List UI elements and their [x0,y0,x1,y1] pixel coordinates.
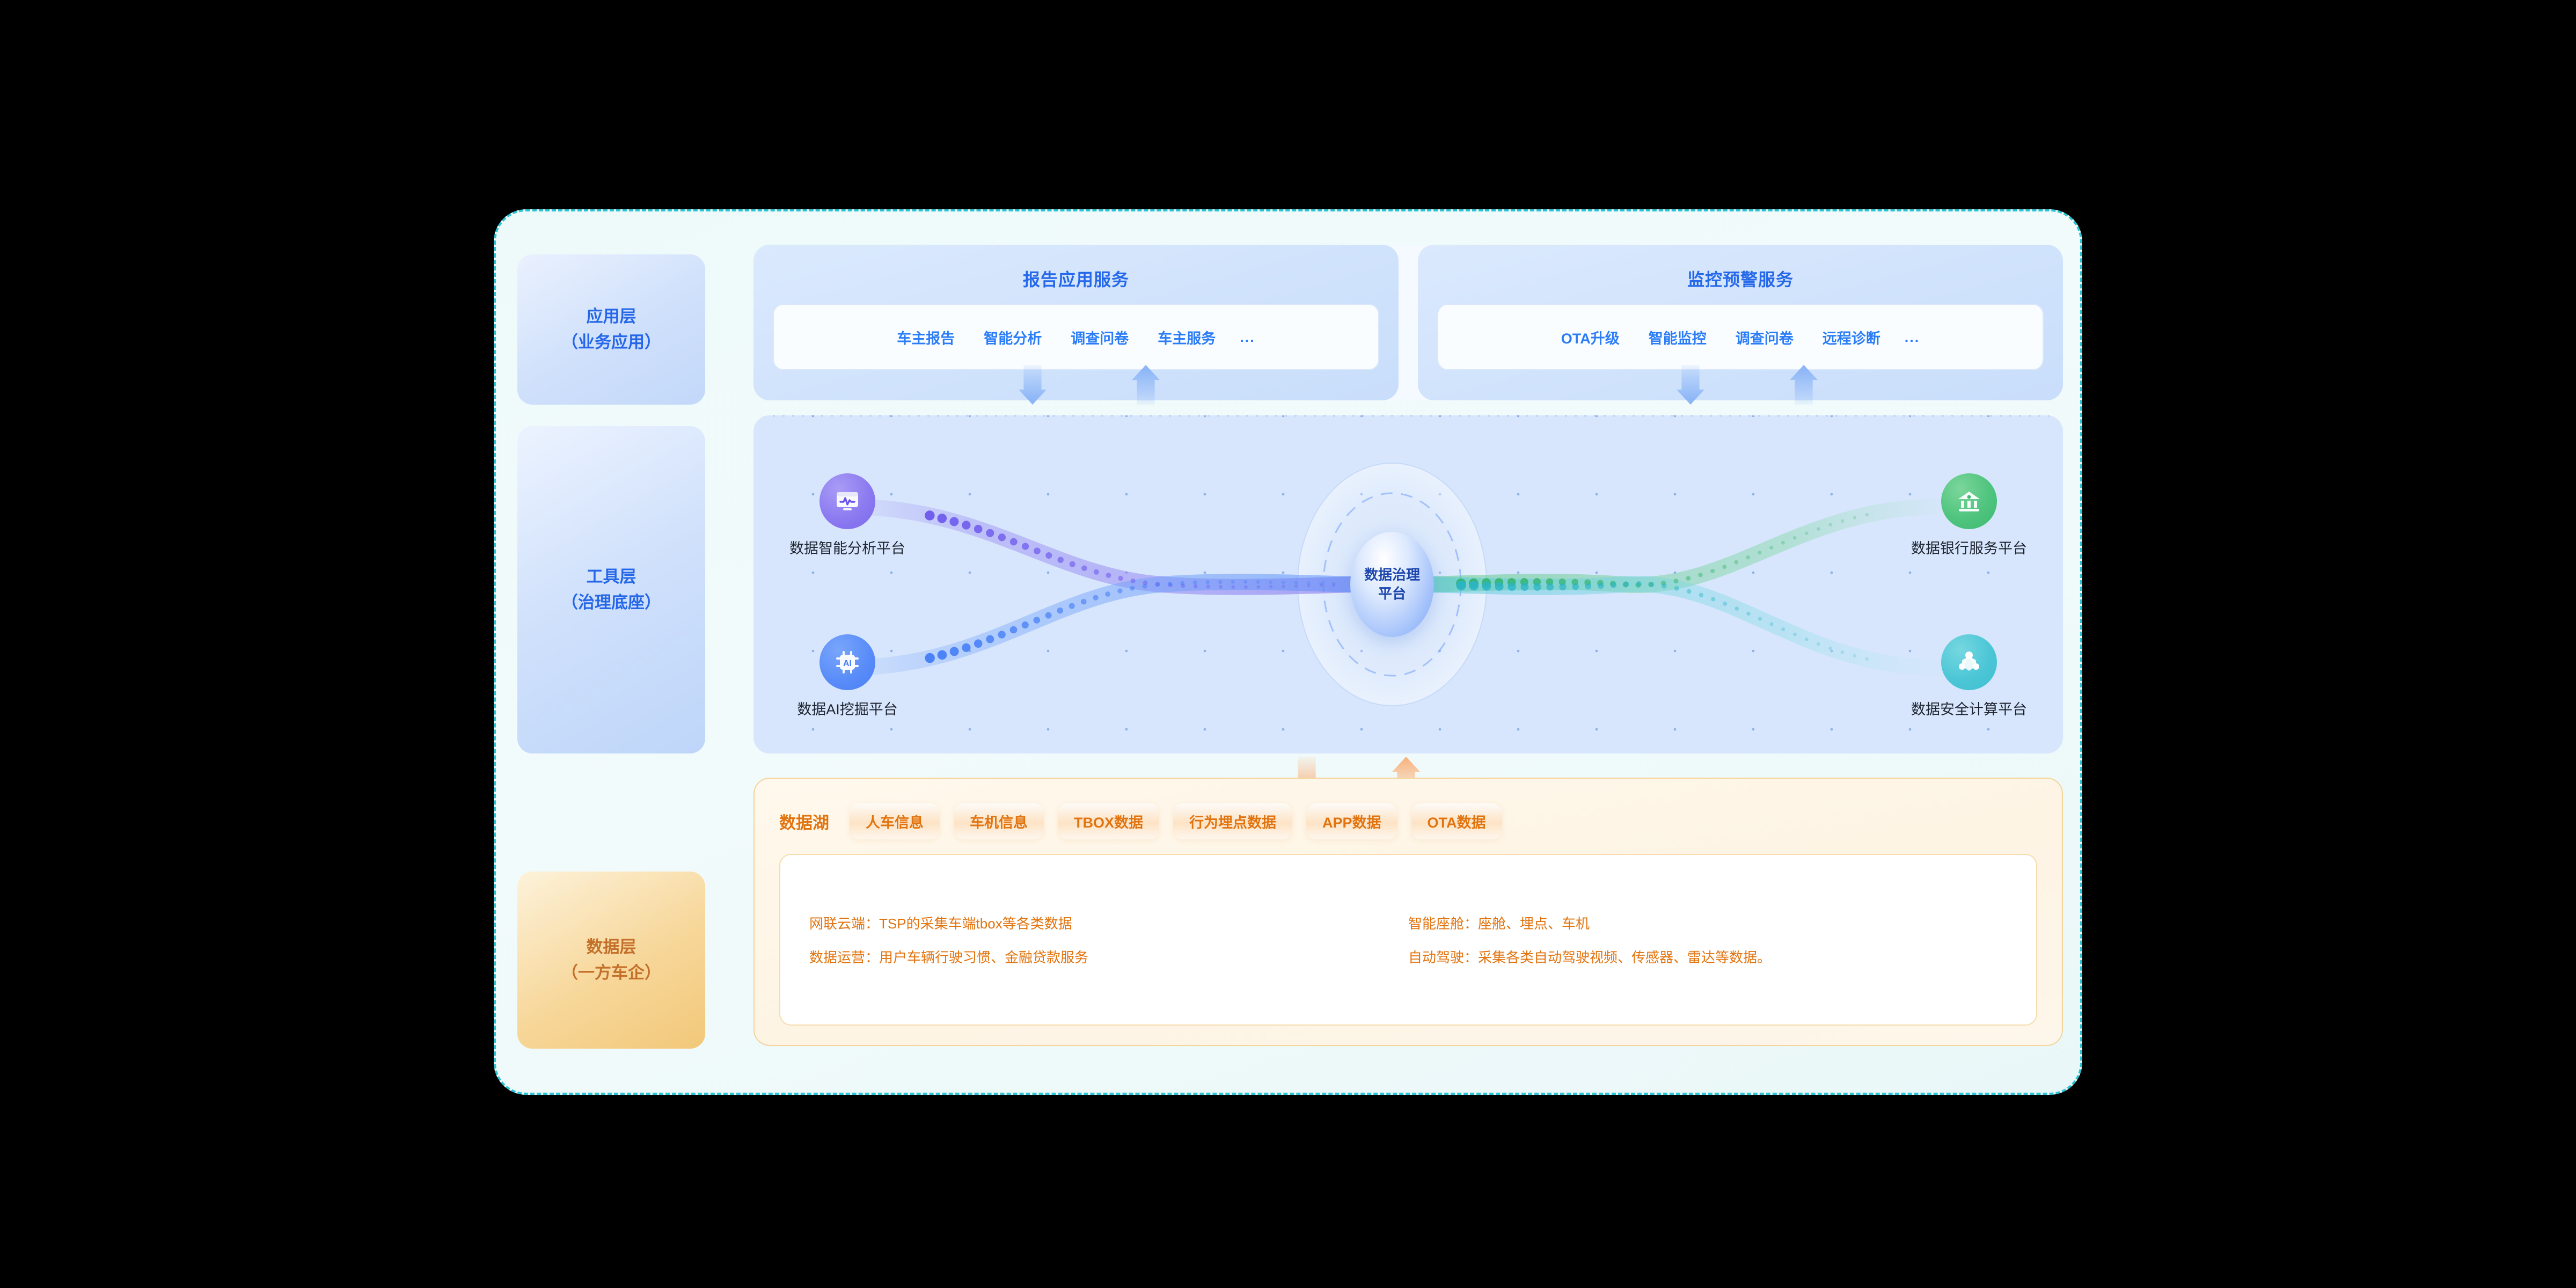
chip-more-monitor[interactable]: ... [1895,329,1935,346]
chip-smart-analysis[interactable]: 智能分析 [969,327,1056,348]
tag-app-data[interactable]: APP数据 [1306,803,1397,839]
tool-layer-panel: 数据智能分析平台 AI 数据AI挖掘平台 [753,415,2063,753]
desc-data-operation: 数据运营：用户车辆行驶习惯、金融贷款服务 [809,947,1408,967]
node-label-data-smart-analysis: 数据智能分析平台 [789,537,905,558]
layer-tool-name: 工具层 [561,564,661,590]
layer-app-sub: （业务应用） [561,330,661,355]
diagram-content: 报告应用服务 车主报告 智能分析 调查问卷 车主服务 ... 监控预警服务 OT… [753,233,2063,1075]
chip-more-report[interactable]: ... [1230,329,1270,346]
chip-questionnaire[interactable]: 调查问卷 [1056,327,1143,348]
tag-tbox-data[interactable]: TBOX数据 [1058,803,1159,839]
desc-autonomous-driving: 自动驾驶：采集各类自动驾驶视频、传感器、雷达等数据。 [1408,947,2007,967]
service-card-report[interactable]: 报告应用服务 车主报告 智能分析 调查问卷 车主服务 ... [753,245,1399,400]
layer-data-sub: （一方车企） [561,960,661,986]
tag-vehicle-machine-info[interactable]: 车机信息 [954,803,1044,839]
node-label-data-bank-service: 数据银行服务平台 [1911,537,2027,558]
hub-label-line2: 平台 [1364,584,1420,603]
data-lake-right-column: 智能座舱：座舱、埋点、车机 自动驾驶：采集各类自动驾驶视频、传感器、雷达等数据。 [1408,876,2007,1003]
data-lake-left-column: 网联云端：TSP的采集车端tbox等各类数据 数据运营：用户车辆行驶习惯、金融贷… [809,876,1408,1003]
node-label-data-ai-mining: 数据AI挖掘平台 [797,698,898,719]
service-card-monitor[interactable]: 监控预警服务 OTA升级 智能监控 调查问卷 远程诊断 ... [1418,245,2063,400]
layer-label-application: 应用层 （业务应用） [517,254,705,405]
service-card-report-chips: 车主报告 智能分析 调查问卷 车主服务 ... [773,304,1379,370]
chip-owner-report[interactable]: 车主报告 [882,327,969,348]
diagram-container: 应用层 （业务应用） 工具层 （治理底座） 数据层 （一方车企） 报告应用服务 [494,209,2082,1095]
diagram-inner: 应用层 （业务应用） 工具层 （治理底座） 数据层 （一方车企） 报告应用服务 [517,233,2063,1075]
data-lake-panel: 数据湖 人车信息 车机信息 TBOX数据 行为埋点数据 APP数据 OTA数据 … [753,778,2063,1046]
tag-behavior-tracking-data[interactable]: 行为埋点数据 [1173,803,1292,839]
layer-label-tool: 工具层 （治理底座） [517,426,705,753]
monitor-pulse-icon [819,473,875,529]
layer-data-name: 数据层 [561,934,661,960]
node-data-security-computing-platform[interactable]: 数据安全计算平台 [1926,634,2012,719]
desc-connected-cloud: 网联云端：TSP的采集车端tbox等各类数据 [809,913,1408,933]
data-lake-title: 数据湖 [779,809,829,833]
ai-chip-icon: AI [819,634,875,690]
hub-data-governance-platform[interactable]: 数据治理 平台 [1350,532,1434,637]
shield-network-icon [1941,634,1997,690]
chip-ota-upgrade[interactable]: OTA升级 [1547,327,1634,348]
tag-ota-data[interactable]: OTA数据 [1411,803,1502,839]
node-data-ai-mining-platform[interactable]: AI 数据AI挖掘平台 [804,634,890,719]
chip-owner-service[interactable]: 车主服务 [1143,327,1230,348]
application-layer-panel: 报告应用服务 车主报告 智能分析 调查问卷 车主服务 ... 监控预警服务 OT… [753,245,2063,400]
arrow-down-monitor-icon [1677,365,1704,405]
desc-smart-cockpit: 智能座舱：座舱、埋点、车机 [1408,913,2007,933]
tag-people-vehicle-info[interactable]: 人车信息 [850,803,940,839]
data-lake-descriptions: 网联云端：TSP的采集车端tbox等各类数据 数据运营：用户车辆行驶习惯、金融贷… [779,854,2037,1026]
chip-smart-monitor[interactable]: 智能监控 [1634,327,1721,348]
node-label-data-security-computing: 数据安全计算平台 [1911,698,2027,719]
service-card-monitor-chips: OTA升级 智能监控 调查问卷 远程诊断 ... [1437,304,2044,370]
arrow-up-report-icon [1132,365,1160,405]
layer-app-name: 应用层 [561,304,661,330]
node-data-bank-service-platform[interactable]: 数据银行服务平台 [1926,473,2012,558]
arrow-up-monitor-icon [1790,365,1818,405]
data-lake-header: 数据湖 人车信息 车机信息 TBOX数据 行为埋点数据 APP数据 OTA数据 [779,801,2037,841]
layer-label-data: 数据层 （一方车企） [517,872,705,1049]
node-data-smart-analysis-platform[interactable]: 数据智能分析平台 [804,473,890,558]
service-card-monitor-title: 监控预警服务 [1418,266,2063,291]
bank-icon [1941,473,1997,529]
svg-text:AI: AI [843,659,852,668]
chip-remote-diagnosis[interactable]: 远程诊断 [1808,327,1895,348]
chip-questionnaire-2[interactable]: 调查问卷 [1721,327,1808,348]
service-card-report-title: 报告应用服务 [753,266,1399,291]
layer-tool-sub: （治理底座） [561,590,661,616]
arrow-down-report-icon [1019,365,1046,405]
hub-label-line1: 数据治理 [1364,566,1420,584]
